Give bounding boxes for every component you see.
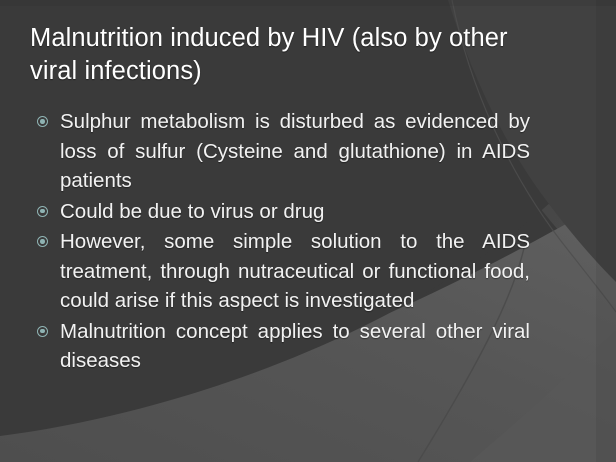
circled-dot-bullet-icon <box>37 326 48 337</box>
circled-dot-bullet-icon <box>37 236 48 247</box>
bullet-item-text: Sulphur metabolism is disturbed as evide… <box>60 107 530 196</box>
bullet-list: Sulphur metabolism is disturbed as evide… <box>34 107 530 377</box>
bullet-item-text: However, some simple solution to the AID… <box>60 227 530 316</box>
bullet-item-text: Malnutrition concept applies to several … <box>60 317 530 376</box>
bullet-item: Sulphur metabolism is disturbed as evide… <box>34 107 530 196</box>
slide-title: Malnutrition induced by HIV (also by oth… <box>30 22 530 88</box>
slide-content: Malnutrition induced by HIV (also by oth… <box>0 0 616 462</box>
bullet-item: Could be due to virus or drug <box>34 197 530 227</box>
presentation-slide: Malnutrition induced by HIV (also by oth… <box>0 0 616 462</box>
circled-dot-bullet-icon <box>37 206 48 217</box>
bullet-item: Malnutrition concept applies to several … <box>34 317 530 376</box>
bullet-item: However, some simple solution to the AID… <box>34 227 530 316</box>
bullet-item-text: Could be due to virus or drug <box>60 197 530 227</box>
circled-dot-bullet-icon <box>37 116 48 127</box>
